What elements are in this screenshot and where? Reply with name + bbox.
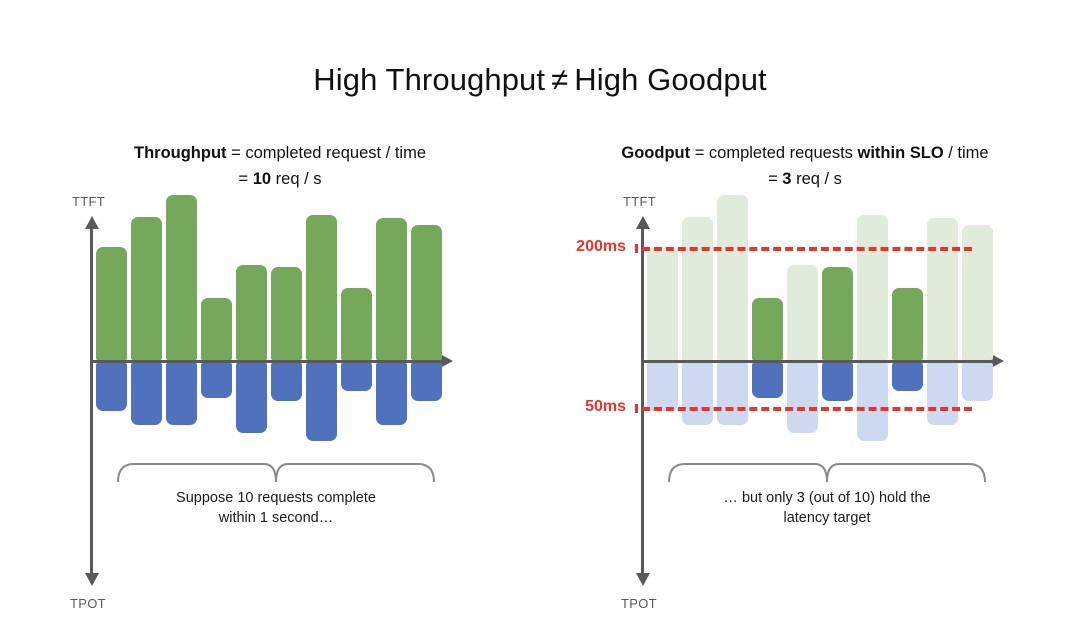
bar-tpot [647, 363, 678, 411]
bar-tpot [306, 363, 337, 441]
bar-tpot [271, 363, 302, 401]
goodput-unit: req / s [791, 170, 841, 188]
goodput-value-line: = 3 req / s [550, 166, 1060, 192]
bar-tpot [927, 363, 958, 425]
page-title: High Throughput≠High Goodput [0, 62, 1080, 98]
tpot-axis-label: TPOT [621, 596, 657, 611]
throughput-panel: Throughput = completed request / time = … [30, 140, 530, 610]
goodput-definition-post: / time [944, 144, 989, 162]
bar-tpot [787, 363, 818, 433]
bar-tpot [857, 363, 888, 441]
bar-ttft [717, 195, 748, 360]
ttft-axis-label: TTFT [623, 194, 656, 209]
goodput-caption-line1: … but only 3 (out of 10) hold the [667, 488, 987, 508]
bar-tpot [822, 363, 853, 401]
throughput-value: 10 [253, 170, 271, 188]
tpot-axis-arrow-icon [85, 573, 99, 586]
bar-tpot [96, 363, 127, 411]
ttft-axis-label: TTFT [72, 194, 105, 209]
tpot-axis-arrow-icon [636, 573, 650, 586]
bar-ttft [166, 195, 197, 360]
bar-tpot [411, 363, 442, 401]
throughput-caption-line2: within 1 second… [116, 508, 436, 528]
goodput-panel: Goodput = completed requests within SLO … [550, 140, 1060, 610]
bar-ttft [962, 225, 993, 360]
bar-ttft [682, 217, 713, 360]
tpot-axis-label: TPOT [70, 596, 106, 611]
bar-tpot [376, 363, 407, 425]
throughput-unit: req / s [271, 170, 321, 188]
bar-tpot [752, 363, 783, 398]
slo-upper-label: 200ms [538, 238, 626, 256]
bar-ttft [271, 267, 302, 360]
throughput-term: Throughput [134, 144, 227, 162]
slo-upper-tick [635, 244, 638, 253]
goodput-definition-pre: = completed requests [690, 144, 857, 162]
ttft-axis-arrow-icon [636, 216, 650, 229]
slo-upper-line [642, 247, 972, 251]
bar-ttft [376, 218, 407, 360]
throughput-chart: TTFT TPOT Suppose 10 requests complete w… [30, 206, 530, 598]
bar-ttft [96, 247, 127, 360]
bar-tpot [892, 363, 923, 391]
title-left: High Throughput [313, 62, 545, 97]
request-range-brace [116, 458, 436, 484]
bar-ttft [787, 265, 818, 360]
goodput-term: Goodput [621, 144, 690, 162]
bar-ttft [822, 267, 853, 360]
bar-ttft [752, 298, 783, 360]
bar-ttft [236, 265, 267, 360]
bar-tpot [166, 363, 197, 425]
bar-tpot [717, 363, 748, 425]
goodput-caption-line2: latency target [667, 508, 987, 528]
title-right: High Goodput [574, 62, 767, 97]
throughput-caption-line1: Suppose 10 requests complete [116, 488, 436, 508]
throughput-value-line: = 10 req / s [30, 166, 530, 192]
goodput-slo-term: within SLO [858, 144, 944, 162]
bar-ttft [201, 298, 232, 360]
bar-ttft [131, 217, 162, 360]
bar-tpot [962, 363, 993, 401]
bar-ttft [647, 247, 678, 360]
bar-ttft [306, 215, 337, 360]
goodput-formula: Goodput = completed requests within SLO … [550, 140, 1060, 192]
bar-ttft [892, 288, 923, 360]
slo-lower-line [642, 407, 972, 411]
goodput-chart: TTFT TPOT 200ms 50ms … but only 3 (out o… [550, 206, 1060, 598]
bar-ttft [927, 218, 958, 360]
slo-lower-tick [635, 404, 638, 413]
bar-ttft [411, 225, 442, 360]
vertical-axis [90, 228, 93, 573]
request-range-brace [667, 458, 987, 484]
bar-tpot [236, 363, 267, 433]
not-equal-symbol: ≠ [545, 62, 574, 97]
throughput-formula: Throughput = completed request / time = … [30, 140, 530, 192]
goodput-caption: … but only 3 (out of 10) hold the latenc… [667, 488, 987, 528]
vertical-axis [641, 228, 644, 573]
slo-lower-label: 50ms [538, 398, 626, 416]
throughput-eq: = [238, 170, 252, 188]
bar-ttft [857, 215, 888, 360]
bar-tpot [341, 363, 372, 391]
throughput-caption: Suppose 10 requests complete within 1 se… [116, 488, 436, 528]
goodput-eq: = [768, 170, 782, 188]
bar-tpot [131, 363, 162, 425]
bar-tpot [201, 363, 232, 398]
bar-tpot [682, 363, 713, 425]
bar-ttft [341, 288, 372, 360]
throughput-definition: = completed request / time [227, 144, 426, 162]
ttft-axis-arrow-icon [85, 216, 99, 229]
